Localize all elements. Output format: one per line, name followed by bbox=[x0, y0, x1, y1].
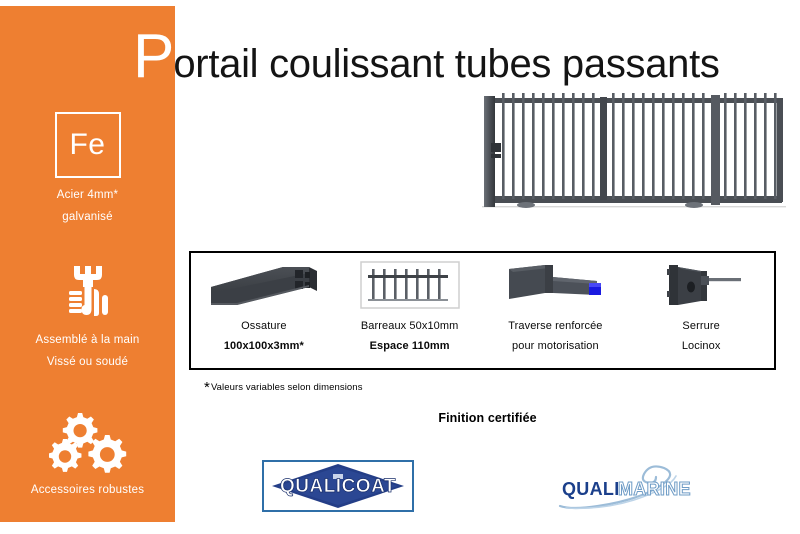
component-barreaux-line2: Espace 110mm bbox=[370, 340, 450, 352]
sliding-gate-illustration bbox=[478, 88, 790, 216]
reinforced-crossbeam-icon bbox=[501, 259, 609, 311]
footnote-asterisk: * bbox=[204, 379, 210, 396]
component-barreaux: Barreaux 50x10mm Espace 110mm bbox=[337, 253, 483, 368]
component-serrure-line1: Serrure bbox=[682, 320, 719, 332]
finition-certifiee-label: Finition certifiée bbox=[0, 411, 800, 425]
sidebar-item-material-line2: galvanisé bbox=[0, 211, 175, 223]
fence-bars-icon bbox=[360, 259, 460, 311]
page-title-capital: P bbox=[133, 26, 173, 88]
component-ossature-line2: 100x100x3mm* bbox=[224, 340, 304, 352]
component-traverse-line1: Traverse renforcée bbox=[508, 320, 602, 332]
sidebar-item-assembly-line1: Assemblé à la main bbox=[0, 334, 175, 346]
component-traverse: Traverse renforcée pour motorisation bbox=[483, 253, 629, 368]
sidebar-item-assembly-line2: Vissé ou soudé bbox=[0, 356, 175, 368]
svg-text:QUALICOAT: QUALICOAT bbox=[280, 476, 396, 497]
component-ossature-line1: Ossature bbox=[241, 320, 286, 332]
page-title-rest: ortail coulissant tubes passants bbox=[173, 44, 719, 84]
footnote-text: Valeurs variables selon dimensions bbox=[211, 382, 363, 393]
sidebar-item-material-line1: Acier 4mm* bbox=[0, 189, 175, 201]
hand-with-wrench-icon bbox=[0, 261, 175, 323]
components-panel: Ossature 100x100x3mm* bbox=[189, 251, 776, 370]
component-serrure-line2: Locinox bbox=[682, 340, 721, 352]
svg-text:MARINE: MARINE bbox=[618, 479, 691, 499]
page-title: Portail coulissant tubes passants bbox=[133, 26, 720, 88]
qualicoat-logo: QUALICOAT bbox=[262, 460, 414, 512]
steel-frame-profile-icon bbox=[209, 259, 319, 311]
fe-symbol: Fe bbox=[69, 130, 105, 160]
component-serrure: Serrure Locinox bbox=[628, 253, 774, 368]
fe-element-box-icon: Fe bbox=[55, 112, 121, 178]
component-barreaux-line1: Barreaux 50x10mm bbox=[361, 320, 459, 332]
component-traverse-line2: pour motorisation bbox=[512, 340, 599, 352]
sidebar-item-material: Fe Acier 4mm* galvanisé bbox=[0, 112, 175, 223]
qualimarine-logo: QUALI MARINE bbox=[552, 462, 712, 512]
component-ossature: Ossature 100x100x3mm* bbox=[191, 253, 337, 368]
sidebar-item-accessories-line1: Accessoires robustes bbox=[0, 484, 175, 496]
lock-icon bbox=[651, 259, 751, 311]
sidebar-item-assembly: Assemblé à la main Vissé ou soudé bbox=[0, 261, 175, 368]
svg-text:QUALI: QUALI bbox=[562, 479, 620, 499]
footnote: *Valeurs variables selon dimensions bbox=[204, 379, 363, 396]
